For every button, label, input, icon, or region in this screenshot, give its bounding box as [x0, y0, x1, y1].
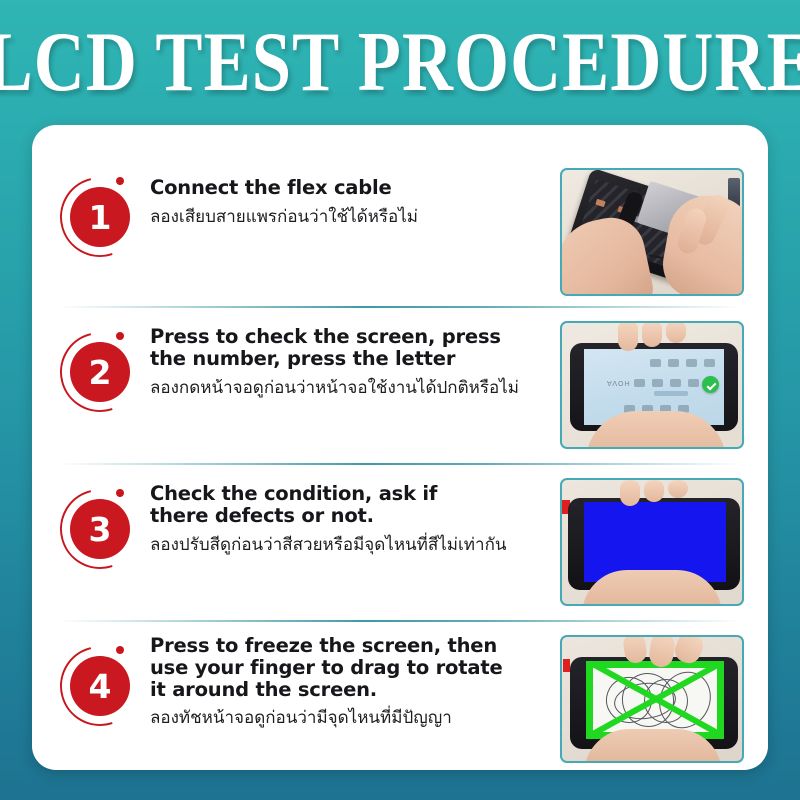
- step-row-2: 2 Press to check the screen, press the n…: [32, 308, 768, 465]
- step-subtitle-4: ลองทัชหน้าจอดูก่อนว่ามีจุดไหนที่มีปัญญา: [150, 707, 560, 730]
- keypad-key: [650, 359, 661, 367]
- green-border-frame: [586, 661, 724, 739]
- finger: [644, 480, 664, 502]
- keypad-key: [686, 359, 697, 367]
- step-subtitle-3: ลองปรับสีดูก่อนว่าสีสวยหรือมีจุดไหนที่สี…: [150, 534, 560, 557]
- step-text-4: Press to freeze the screen, then use you…: [150, 622, 560, 730]
- step-row-3: 3 Check the condition, ask if there defe…: [32, 465, 768, 622]
- step-number-3: 3: [70, 499, 130, 559]
- step-text-3: Check the condition, ask if there defect…: [150, 465, 560, 557]
- orbit-dot-icon: [116, 646, 124, 654]
- finger: [668, 480, 688, 498]
- keypad-key: [670, 379, 681, 387]
- keypad-key: [668, 359, 679, 367]
- step-badge-1: 1: [54, 175, 150, 261]
- finger: [666, 321, 686, 343]
- finger: [642, 321, 662, 347]
- keypad-key: [704, 359, 715, 367]
- red-marker: [563, 659, 570, 672]
- keypad-key: [688, 379, 699, 387]
- step-title-3: Check the condition, ask if there defect…: [150, 483, 560, 527]
- steps-list: 1 Connect the flex cable ลองเสียบสายแพรก…: [32, 125, 768, 770]
- keypad-key: [634, 379, 645, 387]
- step-number-1: 1: [70, 187, 130, 247]
- steps-card: 1 Connect the flex cable ลองเสียบสายแพรก…: [32, 125, 768, 770]
- step-text-2: Press to check the screen, press the num…: [150, 308, 560, 400]
- number-input-field: [654, 391, 688, 396]
- step-title-2: Press to check the screen, press the num…: [150, 326, 560, 370]
- orbit-dot-icon: [116, 177, 124, 185]
- step-row-1: 1 Connect the flex cable ลองเสียบสายแพรก…: [32, 153, 768, 308]
- call-button-icon: [702, 376, 719, 393]
- step-photo-1: [560, 168, 744, 296]
- step-photo-2: HOVA: [560, 321, 744, 449]
- step-badge-4: 4: [54, 644, 150, 730]
- step-badge-3: 3: [54, 487, 150, 573]
- orbit-dot-icon: [116, 489, 124, 497]
- finger: [620, 480, 640, 506]
- phone-brand-label: HOVA: [606, 379, 630, 387]
- page-title: LCD TEST PROCEDURE: [0, 14, 800, 112]
- step-photo-4: [560, 635, 744, 763]
- header-bar: LCD TEST PROCEDURE: [0, 0, 800, 125]
- orbit-dot-icon: [116, 332, 124, 340]
- step-row-4: 4 Press to freeze the screen, then use y…: [32, 622, 768, 770]
- step-text-1: Connect the flex cable ลองเสียบสายแพรก่อ…: [150, 153, 560, 229]
- step-subtitle-1: ลองเสียบสายแพรก่อนว่าใช้ได้หรือไม่: [150, 206, 560, 229]
- step-photo-3: [560, 478, 744, 606]
- step-number-2: 2: [70, 342, 130, 402]
- touch-test-screen: [586, 661, 724, 739]
- step-badge-2: 2: [54, 330, 150, 416]
- step-subtitle-2: ลองกดหน้าจอดูก่อนว่าหน้าจอใช้งานได้ปกติห…: [150, 377, 560, 400]
- keypad-key: [652, 379, 663, 387]
- step-title-1: Connect the flex cable: [150, 177, 560, 199]
- step-number-4: 4: [70, 656, 130, 716]
- finger: [618, 321, 638, 351]
- step-title-4: Press to freeze the screen, then use you…: [150, 635, 560, 700]
